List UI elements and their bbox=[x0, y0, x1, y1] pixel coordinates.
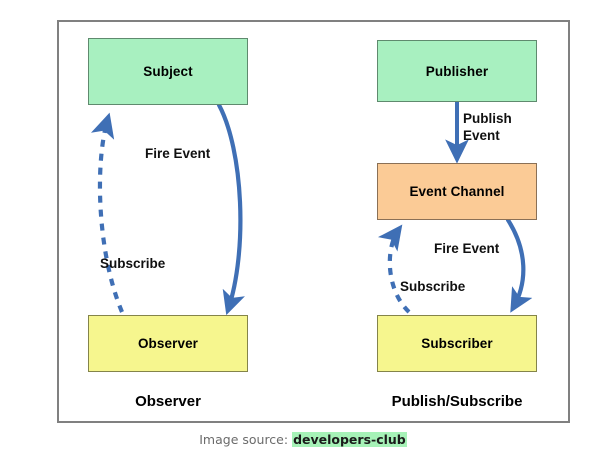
edge-label-subscribe-right: Subscribe bbox=[400, 278, 465, 295]
image-source-caption: Image source: developers-club bbox=[0, 432, 606, 447]
diagram-canvas: Subject Observer Publisher Event Channel… bbox=[0, 0, 606, 467]
edge-label-publish-event-line2: Event bbox=[463, 127, 512, 144]
edge-label-publish-event: Publish Event bbox=[463, 110, 512, 144]
image-source-link[interactable]: developers-club bbox=[292, 432, 407, 447]
caption-prefix: Image source: bbox=[199, 432, 288, 447]
node-event-channel-label: Event Channel bbox=[409, 184, 504, 199]
edge-label-subscribe-left: Subscribe bbox=[100, 255, 165, 272]
node-observer-label: Observer bbox=[138, 336, 198, 351]
edge-label-fire-event-right: Fire Event bbox=[434, 240, 499, 257]
panel-title-publish-subscribe: Publish/Subscribe bbox=[372, 393, 542, 410]
edge-label-publish-event-line1: Publish bbox=[463, 110, 512, 127]
panel-title-observer: Observer bbox=[88, 393, 248, 410]
edge-label-fire-event-left: Fire Event bbox=[145, 145, 210, 162]
node-event-channel[interactable]: Event Channel bbox=[377, 163, 537, 220]
node-subscriber-label: Subscriber bbox=[421, 336, 493, 351]
node-subscriber[interactable]: Subscriber bbox=[377, 315, 537, 372]
node-observer[interactable]: Observer bbox=[88, 315, 248, 372]
node-subject[interactable]: Subject bbox=[88, 38, 248, 105]
node-publisher[interactable]: Publisher bbox=[377, 40, 537, 102]
node-publisher-label: Publisher bbox=[426, 64, 488, 79]
node-subject-label: Subject bbox=[143, 64, 192, 79]
